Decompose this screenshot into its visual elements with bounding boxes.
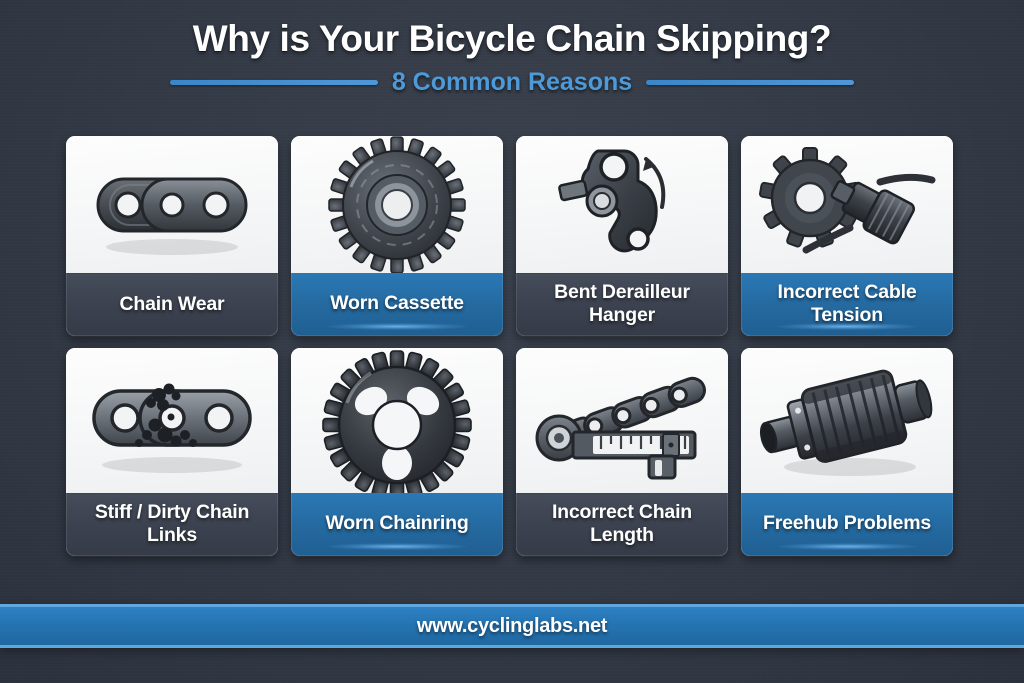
decorative-rule-right <box>646 80 854 85</box>
card-artwork <box>741 136 953 273</box>
reason-card-incorrect-chain-length[interactable]: Incorrect Chain Length <box>516 348 728 556</box>
footer-bar: www.cyclinglabs.net <box>0 604 1024 648</box>
page-subtitle: 8 Common Reasons <box>392 68 632 97</box>
card-label: Worn Chainring <box>291 493 503 556</box>
card-artwork <box>66 348 278 493</box>
card-label: Chain Wear <box>66 273 278 336</box>
reason-card-incorrect-cable-tension[interactable]: Incorrect Cable Tension <box>741 136 953 336</box>
cable-barrel-icon <box>754 142 940 268</box>
chainring-icon <box>315 348 479 493</box>
card-label: Incorrect Chain Length <box>516 493 728 556</box>
page-title: Why is Your Bicycle Chain Skipping? <box>0 18 1024 59</box>
reasons-grid: Chain Wear <box>66 136 955 556</box>
reason-card-bent-derailleur-hanger[interactable]: Bent Derailleur Hanger <box>516 136 728 336</box>
infographic-poster: Why is Your Bicycle Chain Skipping? 8 Co… <box>0 0 1024 683</box>
dirty-chain-link-icon <box>81 365 263 477</box>
chain-link-icon <box>84 151 260 259</box>
card-artwork <box>741 348 953 493</box>
freehub-body-icon <box>754 359 940 483</box>
subtitle-row: 8 Common Reasons <box>0 68 1024 97</box>
cassette-sprocket-icon <box>322 136 472 273</box>
header: Why is Your Bicycle Chain Skipping? 8 Co… <box>0 18 1024 97</box>
card-artwork <box>516 348 728 493</box>
card-artwork <box>516 136 728 273</box>
footer-website[interactable]: www.cyclinglabs.net <box>417 615 607 638</box>
card-artwork <box>66 136 278 273</box>
card-label: Incorrect Cable Tension <box>741 273 953 336</box>
reason-card-worn-chainring[interactable]: Worn Chainring <box>291 348 503 556</box>
card-label: Stiff / Dirty Chain Links <box>66 493 278 556</box>
chain-ruler-icon <box>527 356 717 486</box>
card-label: Bent Derailleur Hanger <box>516 273 728 336</box>
reason-card-stiff-dirty-chain-links[interactable]: Stiff / Dirty Chain Links <box>66 348 278 556</box>
decorative-rule-left <box>170 80 378 85</box>
card-artwork <box>291 348 503 493</box>
derailleur-hanger-icon <box>542 139 702 271</box>
reason-card-chain-wear[interactable]: Chain Wear <box>66 136 278 336</box>
card-label: Freehub Problems <box>741 493 953 556</box>
card-label: Worn Cassette <box>291 273 503 336</box>
card-artwork <box>291 136 503 273</box>
reason-card-worn-cassette[interactable]: Worn Cassette <box>291 136 503 336</box>
reason-card-freehub-problems[interactable]: Freehub Problems <box>741 348 953 556</box>
